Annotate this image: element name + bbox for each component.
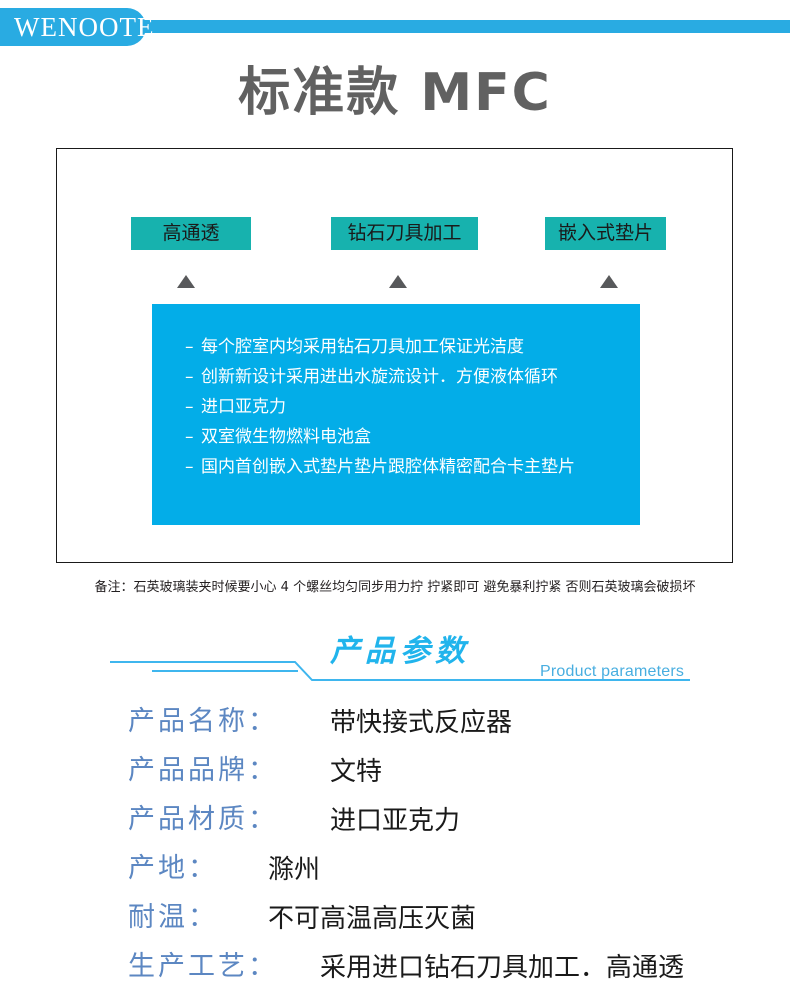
- spec-value: 进口亚克力: [330, 799, 460, 843]
- feature-tag-diamond-tooling: 钻石刀具加工: [331, 217, 478, 250]
- product-spec-list: 产品名称： 带快接式反应器 产品品牌： 文特 产品材质： 进口亚克力 产地： 滁…: [0, 700, 790, 994]
- spec-value: 文特: [330, 750, 382, 794]
- triangle-marker-icon: [600, 275, 618, 288]
- page-header: WENOOTE: [0, 0, 790, 52]
- list-item-label: 创新新设计采用进出水旋流设计．方便液体循环: [201, 367, 558, 387]
- feature-description-panel: –每个腔室内均采用钻石刀具加工保证光洁度 –创新新设计采用进出水旋流设计．方便液…: [152, 304, 640, 525]
- page-title: 标准款 MFC: [0, 62, 790, 124]
- spec-value: 滁州: [268, 848, 320, 892]
- list-item: –每个腔室内均采用钻石刀具加工保证光洁度: [185, 332, 625, 362]
- bullet-dash-icon: –: [185, 332, 201, 362]
- note-text: 备注：石英玻璃装夹时候要小心 4 个螺丝均匀同步用力拧 拧紧即可 避免暴利拧紧 …: [0, 578, 790, 598]
- list-item-label: 国内首创嵌入式垫片垫片跟腔体精密配合卡主垫片: [201, 457, 575, 477]
- spec-label: 产品名称：: [128, 700, 278, 744]
- triangle-marker-icon: [177, 275, 195, 288]
- spec-row-temperature: 耐温： 不可高温高压灭菌: [0, 896, 790, 945]
- brand-logo-text: WENOOTE: [14, 12, 154, 42]
- bullet-dash-icon: –: [185, 422, 201, 452]
- section-title-en: Product parameters: [540, 662, 684, 682]
- spec-label: 生产工艺：: [128, 945, 278, 989]
- list-item-label: 双室微生物燃料电池盒: [201, 427, 371, 447]
- feature-bullet-list: –每个腔室内均采用钻石刀具加工保证光洁度 –创新新设计采用进出水旋流设计．方便液…: [185, 332, 625, 482]
- triangle-marker-icon: [389, 275, 407, 288]
- list-item: –双室微生物燃料电池盒: [185, 422, 625, 452]
- spec-row-origin: 产地： 滁州: [0, 847, 790, 896]
- spec-label: 产品品牌：: [128, 749, 278, 793]
- list-item-label: 进口亚克力: [201, 397, 286, 417]
- spec-label: 产品材质：: [128, 798, 278, 842]
- spec-value: 采用进口钻石刀具加工．高通透: [320, 946, 684, 990]
- bullet-dash-icon: –: [185, 452, 201, 482]
- bullet-dash-icon: –: [185, 392, 201, 422]
- header-rule: [120, 20, 790, 33]
- spec-label: 产地：: [128, 847, 218, 891]
- feature-tag-high-transparency: 高通透: [131, 217, 251, 250]
- section-title-cn: 产品参数: [330, 633, 470, 671]
- spec-value: 带快接式反应器: [330, 701, 512, 745]
- spec-row-brand: 产品品牌： 文特: [0, 749, 790, 798]
- list-item-label: 每个腔室内均采用钻石刀具加工保证光洁度: [201, 337, 524, 357]
- spec-row-material: 产品材质： 进口亚克力: [0, 798, 790, 847]
- feature-tag-embedded-gasket: 嵌入式垫片: [545, 217, 666, 250]
- section-header-product-parameters: 产品参数 Product parameters: [0, 630, 790, 690]
- spec-value: 不可高温高压灭菌: [268, 897, 476, 941]
- list-item: –国内首创嵌入式垫片垫片跟腔体精密配合卡主垫片: [185, 452, 625, 482]
- spec-row-product-name: 产品名称： 带快接式反应器: [0, 700, 790, 749]
- list-item: –创新新设计采用进出水旋流设计．方便液体循环: [185, 362, 625, 392]
- list-item: –进口亚克力: [185, 392, 625, 422]
- spec-row-process: 生产工艺： 采用进口钻石刀具加工．高通透: [0, 945, 790, 994]
- brand-logo-badge: WENOOTE: [0, 8, 146, 46]
- spec-label: 耐温：: [128, 896, 218, 940]
- bullet-dash-icon: –: [185, 362, 201, 392]
